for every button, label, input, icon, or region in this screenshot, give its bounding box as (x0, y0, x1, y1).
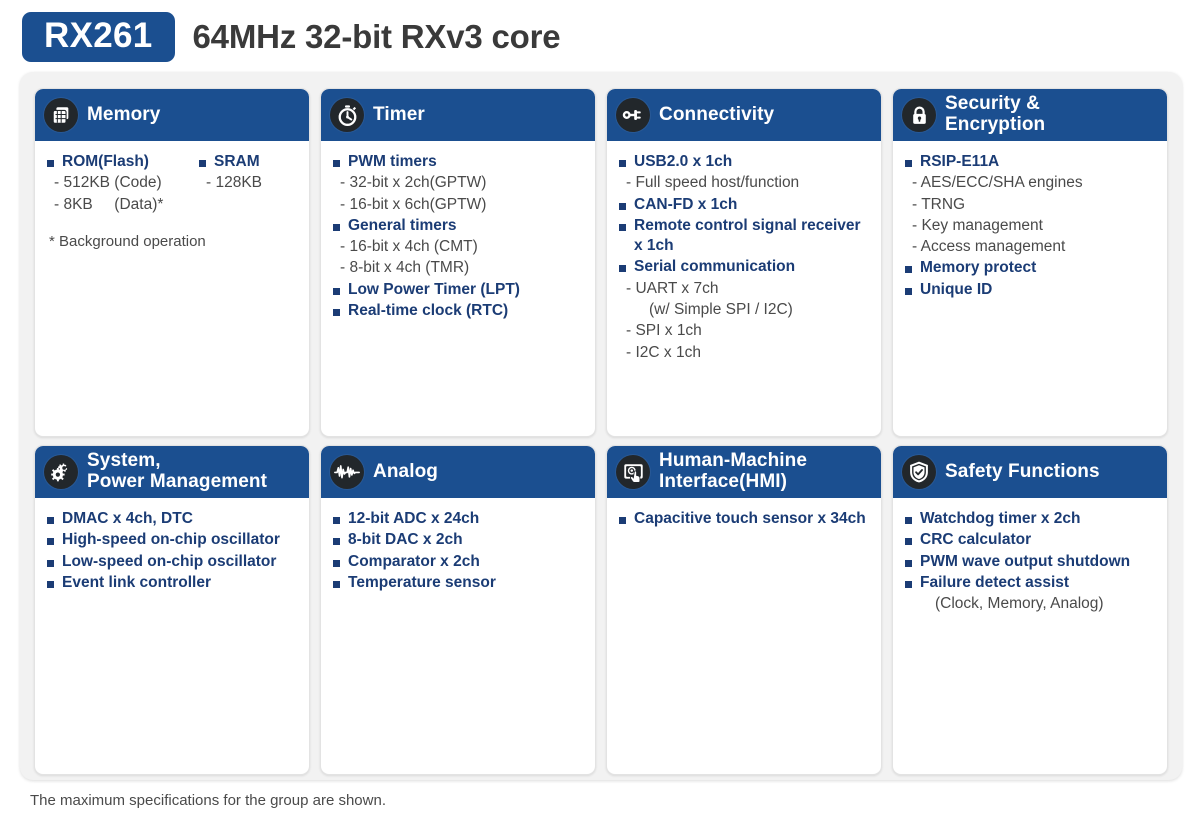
feature-sub-note: (Clock, Memory, Analog) (905, 594, 1157, 614)
feature-card-connectivity: ConnectivityUSB2.0 x 1ch- Full speed hos… (606, 88, 882, 437)
bullet-square-icon (619, 160, 626, 167)
feature-bullet-label: DMAC x 4ch, DTC (62, 509, 299, 529)
feature-detail-row: - 8-bit x 4ch (TMR) (333, 258, 585, 278)
feature-board: MemoryROM(Flash)- 512KB (Code)- 8KB (Dat… (20, 72, 1182, 780)
bullet-square-icon (333, 160, 340, 167)
feature-bullet-row: Comparator x 2ch (333, 552, 585, 572)
feature-bullet-row: Memory protect (905, 258, 1157, 278)
bullet-square-icon (47, 517, 54, 524)
feature-bullet-label: Unique ID (920, 280, 1157, 300)
card-title-connectivity: Connectivity (659, 105, 774, 126)
bullet-square-icon (905, 160, 912, 167)
feature-bullet-label: Temperature sensor (348, 573, 585, 593)
feature-bullet-label: Real-time clock (RTC) (348, 301, 585, 321)
feature-detail-row: - Access management (905, 237, 1157, 257)
feature-bullet-label: PWM wave output shutdown (920, 552, 1157, 572)
bullet-square-icon (333, 560, 340, 567)
feature-grid: MemoryROM(Flash)- 512KB (Code)- 8KB (Dat… (34, 88, 1168, 766)
card-header-safety-functions: Safety Functions (893, 446, 1167, 498)
feature-bullet-row: General timers (333, 216, 585, 236)
feature-bullet-label: SRAM (214, 152, 262, 172)
feature-detail-row: - AES/ECC/SHA engines (905, 173, 1157, 193)
bullet-square-icon (47, 538, 54, 545)
waveform-icon (330, 455, 364, 489)
card-body-connectivity: USB2.0 x 1ch- Full speed host/functionCA… (607, 141, 881, 436)
feature-bullet-row: Temperature sensor (333, 573, 585, 593)
gears-icon (44, 455, 78, 489)
feature-card-memory: MemoryROM(Flash)- 512KB (Code)- 8KB (Dat… (34, 88, 310, 437)
feature-bullet-label: ROM(Flash) (62, 152, 199, 172)
card-body-safety-functions: Watchdog timer x 2chCRC calculatorPWM wa… (893, 498, 1167, 774)
feature-bullet-label: PWM timers (348, 152, 585, 172)
card-body-system-power-management: DMAC x 4ch, DTCHigh-speed on-chip oscill… (35, 498, 309, 774)
feature-bullet-label: Low Power Timer (LPT) (348, 280, 585, 300)
feature-bullet-row: Low Power Timer (LPT) (333, 280, 585, 300)
memory-footnote: * Background operation (47, 233, 299, 250)
feature-bullet-label: High-speed on-chip oscillator (62, 530, 299, 550)
card-title-security: Security & Encryption (945, 94, 1045, 135)
feature-bullet-label: General timers (348, 216, 585, 236)
feature-bullet-label: Memory protect (920, 258, 1157, 278)
feature-bullet-label: Comparator x 2ch (348, 552, 585, 572)
feature-card-analog: Analog12-bit ADC x 24ch8-bit DAC x 2chCo… (320, 445, 596, 775)
feature-bullet-row: Remote control signal receiver x 1ch (619, 216, 871, 257)
feature-bullet-label: Capacitive touch sensor x 34ch (634, 509, 871, 529)
feature-detail-row: - 16-bit x 4ch (CMT) (333, 237, 585, 257)
feature-bullet-row: 8-bit DAC x 2ch (333, 530, 585, 550)
feature-bullet-row: CRC calculator (905, 530, 1157, 550)
feature-detail-row: - Full speed host/function (619, 173, 871, 193)
bullet-square-icon (333, 288, 340, 295)
bullet-square-icon (905, 538, 912, 545)
plug-connector-icon (616, 98, 650, 132)
page-title: 64MHz 32-bit RXv3 core (193, 18, 561, 56)
feature-bullet-label: 12-bit ADC x 24ch (348, 509, 585, 529)
feature-detail-row: - 16-bit x 6ch(GPTW) (333, 195, 585, 215)
feature-bullet-row: Watchdog timer x 2ch (905, 509, 1157, 529)
card-header-system-power-management: System, Power Management (35, 446, 309, 498)
card-body-memory: ROM(Flash)- 512KB (Code)- 8KB (Data)*SRA… (35, 141, 309, 436)
feature-bullet-label: Failure detect assist (920, 573, 1157, 593)
feature-detail-row: - 512KB (Code) (47, 173, 199, 193)
feature-bullet-label: Low-speed on-chip oscillator (62, 552, 299, 572)
memory-columns: ROM(Flash)- 512KB (Code)- 8KB (Data)*SRA… (47, 152, 299, 216)
feature-detail-row: - 8KB (Data)* (47, 195, 199, 215)
bullet-square-icon (47, 160, 54, 167)
feature-detail-row: - TRNG (905, 195, 1157, 215)
feature-bullet-row: SRAM (199, 152, 262, 172)
card-header-memory: Memory (35, 89, 309, 141)
feature-bullet-label: Remote control signal receiver x 1ch (634, 216, 871, 257)
feature-detail-row: - UART x 7ch (619, 279, 871, 299)
bullet-square-icon (905, 266, 912, 273)
bullet-square-icon (905, 288, 912, 295)
feature-card-security: Security & EncryptionRSIP-E11A- AES/ECC/… (892, 88, 1168, 437)
card-title-timer: Timer (373, 105, 425, 126)
card-header-hmi: Human-Machine Interface(HMI) (607, 446, 881, 498)
card-title-hmi: Human-Machine Interface(HMI) (659, 451, 807, 492)
memory-chip-icon (44, 98, 78, 132)
feature-sub-note: (w/ Simple SPI / I2C) (619, 300, 871, 320)
card-title-memory: Memory (87, 105, 160, 126)
card-header-timer: Timer (321, 89, 595, 141)
card-header-analog: Analog (321, 446, 595, 498)
feature-bullet-row: Real-time clock (RTC) (333, 301, 585, 321)
footnote: The maximum specifications for the group… (30, 792, 386, 809)
bullet-square-icon (333, 309, 340, 316)
feature-bullet-row: High-speed on-chip oscillator (47, 530, 299, 550)
feature-bullet-row: RSIP-E11A (905, 152, 1157, 172)
feature-detail-row: - I2C x 1ch (619, 343, 871, 363)
shield-check-icon (902, 455, 936, 489)
card-title-system-power-management: System, Power Management (87, 451, 267, 492)
card-body-security: RSIP-E11A- AES/ECC/SHA engines- TRNG- Ke… (893, 141, 1167, 436)
card-header-connectivity: Connectivity (607, 89, 881, 141)
feature-card-hmi: Human-Machine Interface(HMI)Capacitive t… (606, 445, 882, 775)
bullet-square-icon (905, 517, 912, 524)
feature-detail-row: - Key management (905, 216, 1157, 236)
memory-column-1: ROM(Flash)- 512KB (Code)- 8KB (Data)* (47, 152, 199, 216)
bullet-square-icon (619, 265, 626, 272)
bullet-square-icon (619, 224, 626, 231)
bullet-square-icon (619, 203, 626, 210)
touchscreen-hand-icon (616, 455, 650, 489)
feature-bullet-row: Unique ID (905, 280, 1157, 300)
bullet-square-icon (333, 224, 340, 231)
bullet-square-icon (199, 160, 206, 167)
feature-card-timer: TimerPWM timers- 32-bit x 2ch(GPTW)- 16-… (320, 88, 596, 437)
feature-bullet-label: 8-bit DAC x 2ch (348, 530, 585, 550)
feature-bullet-row: USB2.0 x 1ch (619, 152, 871, 172)
card-body-hmi: Capacitive touch sensor x 34ch (607, 498, 881, 774)
page-header: RX261 64MHz 32-bit RXv3 core (22, 12, 560, 62)
feature-bullet-label: USB2.0 x 1ch (634, 152, 871, 172)
bullet-square-icon (47, 581, 54, 588)
feature-bullet-label: Watchdog timer x 2ch (920, 509, 1157, 529)
card-title-safety-functions: Safety Functions (945, 462, 1100, 483)
product-badge: RX261 (22, 12, 175, 62)
card-header-security: Security & Encryption (893, 89, 1167, 141)
feature-bullet-row: ROM(Flash) (47, 152, 199, 172)
bullet-square-icon (47, 560, 54, 567)
feature-card-safety-functions: Safety FunctionsWatchdog timer x 2chCRC … (892, 445, 1168, 775)
bullet-square-icon (905, 581, 912, 588)
card-body-analog: 12-bit ADC x 24ch8-bit DAC x 2chComparat… (321, 498, 595, 774)
feature-bullet-row: PWM wave output shutdown (905, 552, 1157, 572)
feature-bullet-row: Event link controller (47, 573, 299, 593)
feature-bullet-row: Failure detect assist (905, 573, 1157, 593)
rx261-spec-sheet: RX261 64MHz 32-bit RXv3 core MemoryROM(F… (0, 0, 1200, 820)
feature-bullet-row: DMAC x 4ch, DTC (47, 509, 299, 529)
bullet-square-icon (333, 538, 340, 545)
feature-bullet-label: CAN-FD x 1ch (634, 195, 871, 215)
stopwatch-icon (330, 98, 364, 132)
feature-detail-row: - 128KB (199, 173, 262, 193)
lock-icon (902, 98, 936, 132)
bullet-square-icon (333, 517, 340, 524)
feature-bullet-label: Serial communication (634, 257, 871, 277)
feature-bullet-row: Low-speed on-chip oscillator (47, 552, 299, 572)
card-title-analog: Analog (373, 462, 438, 483)
feature-bullet-label: RSIP-E11A (920, 152, 1157, 172)
feature-card-system-power-management: System, Power ManagementDMAC x 4ch, DTCH… (34, 445, 310, 775)
memory-column-2: SRAM- 128KB (199, 152, 262, 216)
feature-bullet-label: Event link controller (62, 573, 299, 593)
bullet-square-icon (333, 581, 340, 588)
feature-bullet-row: 12-bit ADC x 24ch (333, 509, 585, 529)
feature-bullet-row: Serial communication (619, 257, 871, 277)
feature-bullet-row: PWM timers (333, 152, 585, 172)
card-body-timer: PWM timers- 32-bit x 2ch(GPTW)- 16-bit x… (321, 141, 595, 436)
feature-bullet-row: CAN-FD x 1ch (619, 195, 871, 215)
feature-detail-row: - SPI x 1ch (619, 321, 871, 341)
feature-bullet-row: Capacitive touch sensor x 34ch (619, 509, 871, 529)
feature-bullet-label: CRC calculator (920, 530, 1157, 550)
feature-detail-row: - 32-bit x 2ch(GPTW) (333, 173, 585, 193)
bullet-square-icon (905, 560, 912, 567)
bullet-square-icon (619, 517, 626, 524)
